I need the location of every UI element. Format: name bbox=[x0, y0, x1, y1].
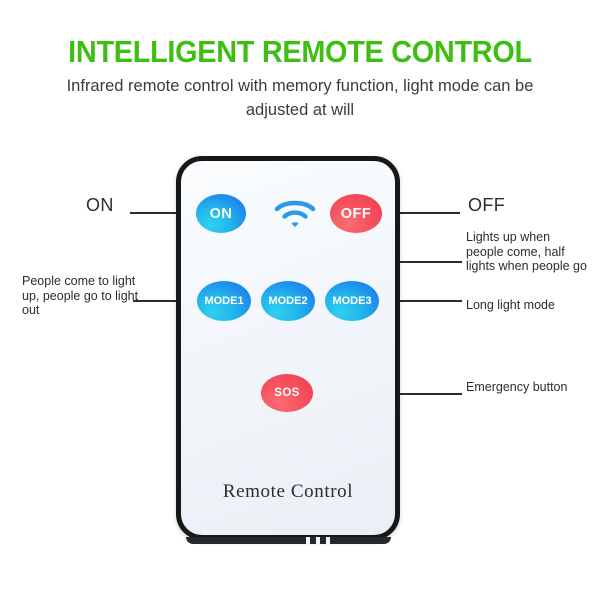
remote-button-mode1[interactable]: MODE1 bbox=[197, 281, 251, 321]
remote-button-mode3[interactable]: MODE3 bbox=[325, 281, 379, 321]
callout-label-sos: Emergency button bbox=[466, 380, 586, 395]
page-title: INTELLIGENT REMOTE CONTROL bbox=[21, 34, 579, 70]
base-notch bbox=[306, 537, 310, 544]
callout-label-mode3: Long light mode bbox=[466, 298, 596, 313]
remote-base-strip bbox=[186, 537, 391, 544]
remote-button-on[interactable]: ON bbox=[196, 194, 246, 233]
remote-button-mode2[interactable]: MODE2 bbox=[261, 281, 315, 321]
page-subtitle: Infrared remote control with memory func… bbox=[50, 74, 550, 122]
callout-label-mode2: Lights up when people come, half lights … bbox=[466, 230, 591, 274]
callout-label-on: ON bbox=[86, 198, 114, 213]
remote-button-sos[interactable]: SOS bbox=[261, 374, 313, 412]
callout-label-mode1: People come to light up, people go to li… bbox=[22, 274, 152, 318]
device-brand-text: Remote Control bbox=[176, 481, 400, 503]
remote-button-off[interactable]: OFF bbox=[330, 194, 382, 233]
infographic-canvas: INTELLIGENT REMOTE CONTROL Infrared remo… bbox=[0, 0, 600, 600]
base-notch bbox=[326, 537, 330, 544]
callout-label-off: OFF bbox=[468, 198, 505, 213]
base-notch bbox=[316, 537, 320, 544]
wifi-signal-icon bbox=[274, 198, 316, 230]
